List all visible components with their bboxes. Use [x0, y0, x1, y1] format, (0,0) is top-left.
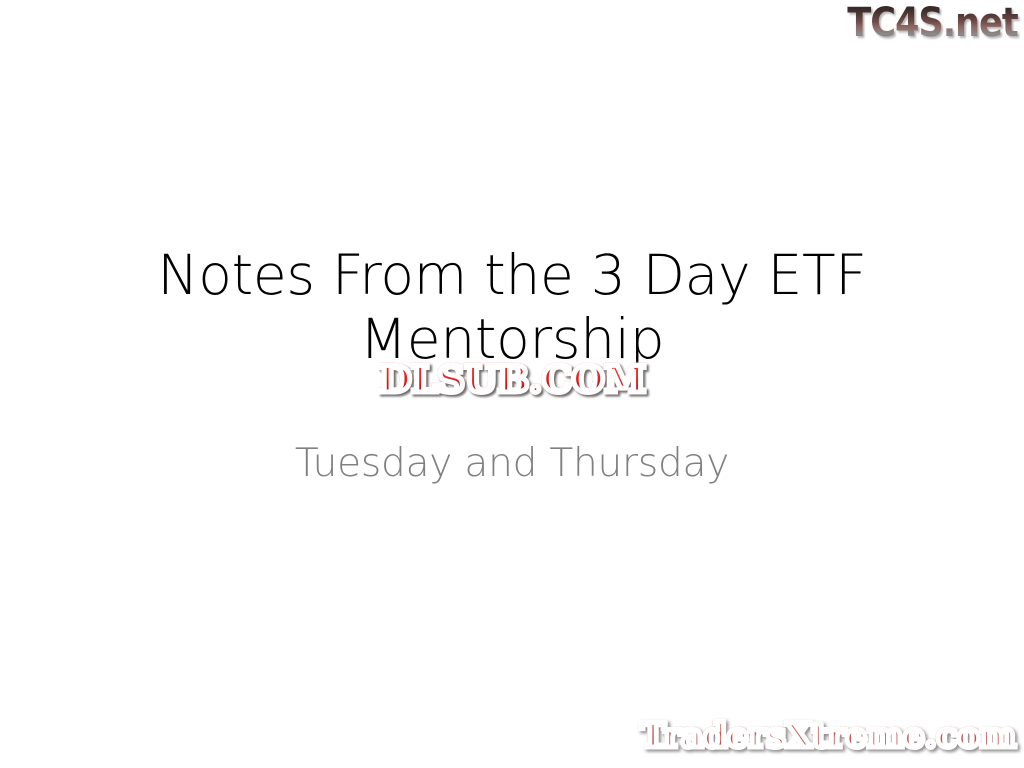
slide-subtitle-block: Tuesday and Thursday — [92, 440, 932, 488]
footer-watermark: TradersXtreme.com — [640, 716, 1016, 756]
tc4s-brand-logo: TC4S.net — [848, 1, 1018, 45]
slide-title-block: Notes From the 3 Day ETF Mentorship — [92, 243, 932, 371]
tradersxtreme-watermark-text: TradersXtreme.com — [640, 716, 1016, 756]
slide-title: Notes From the 3 Day ETF Mentorship — [92, 243, 932, 371]
presentation-slide: TC4S.net Notes From the 3 Day ETF Mentor… — [0, 0, 1024, 768]
slide-subtitle: Tuesday and Thursday — [92, 440, 932, 488]
